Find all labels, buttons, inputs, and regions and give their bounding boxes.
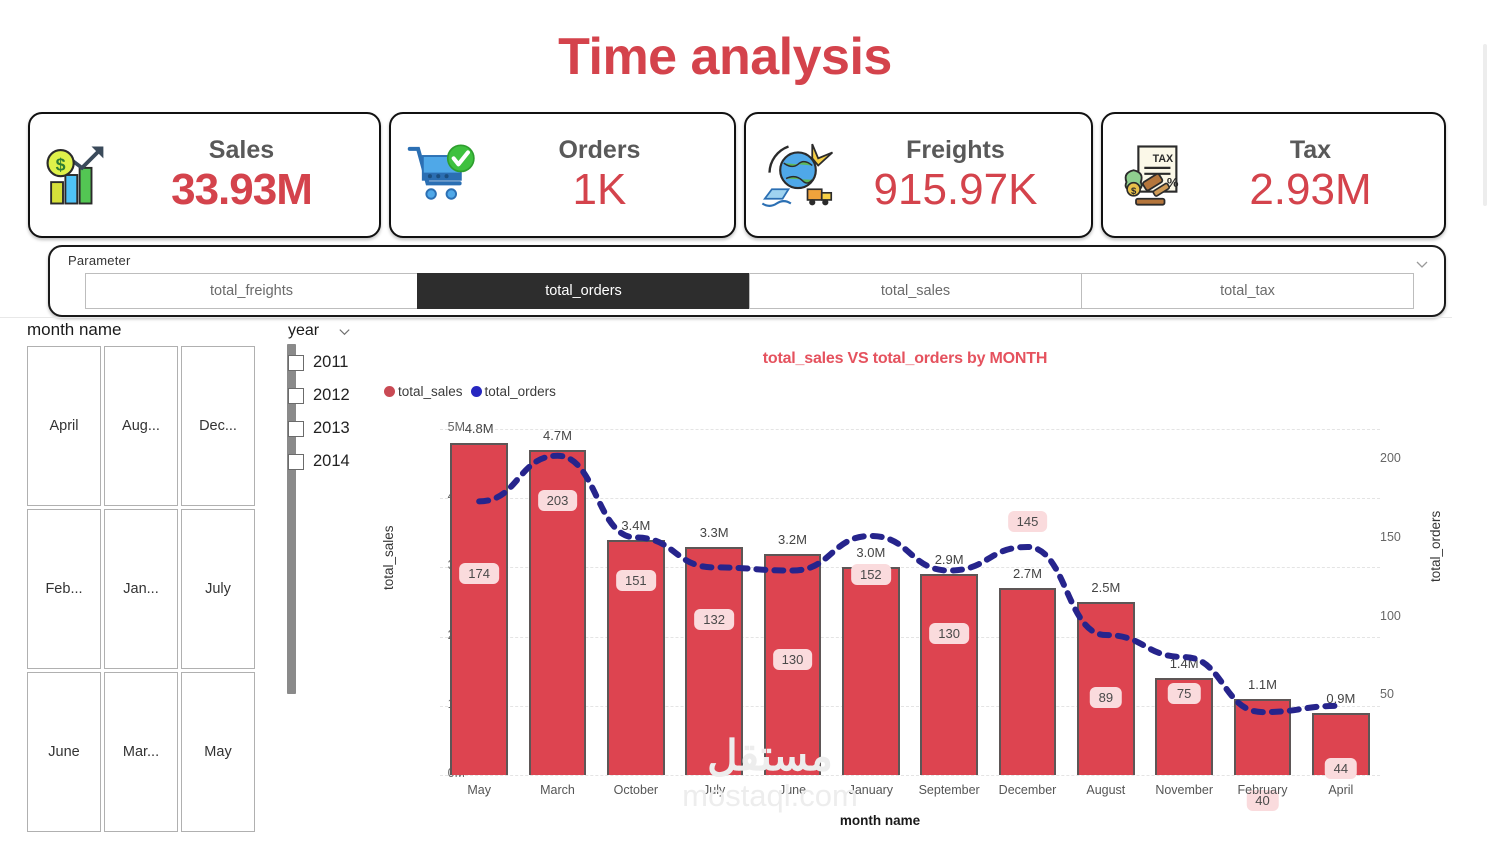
page-title: Time analysis xyxy=(0,30,1450,85)
chart-bar[interactable] xyxy=(920,574,978,775)
kpi-tax-label: Tax xyxy=(1193,137,1428,165)
kpi-card-orders[interactable]: Orders 1K xyxy=(389,112,736,238)
svg-text:$: $ xyxy=(56,154,66,174)
kpi-freights-label: Freights xyxy=(836,137,1075,165)
chart-bar[interactable] xyxy=(450,443,508,775)
month-tile[interactable]: Aug... xyxy=(104,346,178,506)
kpi-card-sales[interactable]: $ Sales 33.93M xyxy=(28,112,381,238)
x-axis-tick: September xyxy=(919,783,980,797)
line-value-label: 89 xyxy=(1090,687,1122,708)
x-axis-title: month name xyxy=(375,813,1385,828)
legend-item-total-sales[interactable]: total_sales xyxy=(384,384,463,399)
legend-dot-total-sales xyxy=(384,386,395,397)
month-tile[interactable]: June xyxy=(27,672,101,832)
dashboard-page: Time analysis $ Sales 33.93M xyxy=(0,0,1493,851)
x-axis-tick: January xyxy=(849,783,893,797)
y-axis-left-title: total_sales xyxy=(381,525,396,590)
month-name-slicer[interactable]: month name April Aug... Dec... Feb... Ja… xyxy=(27,320,272,830)
kpi-card-row: $ Sales 33.93M Orders 1K xyxy=(28,112,1446,238)
section-divider xyxy=(0,317,1452,318)
legend-label: total_sales xyxy=(398,384,463,399)
y-axis-left-tick: 5M xyxy=(405,420,465,434)
line-value-label: 132 xyxy=(694,609,734,630)
month-tile[interactable]: May xyxy=(181,672,255,832)
chevron-down-icon[interactable] xyxy=(337,324,352,339)
bar-value-label: 3.3M xyxy=(700,525,729,540)
line-value-label: 174 xyxy=(459,563,499,584)
parameter-slicer[interactable]: Parameter total_freights total_orders to… xyxy=(48,245,1446,317)
year-label: 2012 xyxy=(313,386,350,405)
shopping-cart-check-icon xyxy=(405,137,481,213)
x-axis-tick: June xyxy=(779,783,806,797)
bar-value-label: 3.4M xyxy=(621,518,650,533)
parameter-option-total-freights[interactable]: total_freights xyxy=(85,273,418,309)
year-slicer-title: year xyxy=(288,322,319,340)
bar-value-label: 4.7M xyxy=(543,428,572,443)
parameter-option-total-orders[interactable]: total_orders xyxy=(417,273,750,309)
svg-text:$: $ xyxy=(1131,186,1137,197)
x-axis-tick: February xyxy=(1237,783,1287,797)
line-value-label: 130 xyxy=(929,623,969,644)
bar-value-label: 2.5M xyxy=(1091,580,1120,595)
chart-plot-area: total_sales total_orders month name 0M1M… xyxy=(375,405,1493,851)
parameter-slicer-label: Parameter xyxy=(68,253,131,268)
kpi-freights-value: 915.97K xyxy=(836,167,1075,213)
legend-item-total-orders[interactable]: total_orders xyxy=(471,384,556,399)
line-value-label: 151 xyxy=(616,570,656,591)
chart-legend: total_sales total_orders xyxy=(384,384,556,399)
tax-document-gavel-icon: TAX % $ xyxy=(1117,137,1193,213)
year-checkbox-2011[interactable] xyxy=(288,355,304,371)
month-tile[interactable]: Dec... xyxy=(181,346,255,506)
x-axis-tick: November xyxy=(1155,783,1213,797)
x-axis-tick: March xyxy=(540,783,575,797)
bar-value-label: 0.9M xyxy=(1326,691,1355,706)
bar-value-label: 1.1M xyxy=(1248,677,1277,692)
chart-title: total_sales VS total_orders by MONTH xyxy=(375,350,1435,368)
chart-bar[interactable] xyxy=(999,588,1057,775)
bar-value-label: 3.2M xyxy=(778,532,807,547)
kpi-sales-text: Sales 33.93M xyxy=(120,137,369,213)
y-axis-right-tick: 200 xyxy=(1380,451,1401,465)
month-tile[interactable]: Jan... xyxy=(104,509,178,669)
page-scrollbar[interactable] xyxy=(1483,44,1487,206)
year-checkbox-2014[interactable] xyxy=(288,454,304,470)
line-value-label: 44 xyxy=(1325,758,1357,779)
parameter-option-total-sales[interactable]: total_sales xyxy=(749,273,1082,309)
year-label: 2013 xyxy=(313,419,350,438)
kpi-card-freights[interactable]: Freights 915.97K xyxy=(744,112,1093,238)
line-value-label: 145 xyxy=(1008,511,1048,532)
y-axis-right-title: total_orders xyxy=(1428,511,1443,582)
parameter-slicer-options: total_freights total_orders total_sales … xyxy=(85,273,1413,309)
year-label: 2014 xyxy=(313,452,350,471)
year-checkbox-2012[interactable] xyxy=(288,388,304,404)
parameter-option-total-tax[interactable]: total_tax xyxy=(1081,273,1414,309)
gridline xyxy=(440,429,1380,430)
kpi-orders-text: Orders 1K xyxy=(481,137,724,213)
combo-chart[interactable]: total_sales VS total_orders by MONTH tot… xyxy=(375,320,1493,851)
x-axis-tick: August xyxy=(1086,783,1125,797)
kpi-orders-value: 1K xyxy=(481,167,718,213)
chart-bar[interactable] xyxy=(685,547,743,775)
global-shipping-icon xyxy=(760,137,836,213)
line-value-label: 130 xyxy=(773,649,813,670)
month-tile-grid: April Aug... Dec... Feb... Jan... July J… xyxy=(27,346,272,832)
chart-bar[interactable] xyxy=(1234,699,1292,775)
kpi-card-tax[interactable]: TAX % $ Tax 2.93M xyxy=(1101,112,1446,238)
legend-dot-total-orders xyxy=(471,386,482,397)
line-value-label: 75 xyxy=(1168,683,1200,704)
kpi-freights-text: Freights 915.97K xyxy=(836,137,1081,213)
bar-value-label: 3.0M xyxy=(856,545,885,560)
year-label: 2011 xyxy=(313,353,348,372)
chart-bar[interactable] xyxy=(842,567,900,775)
bar-value-label: 2.9M xyxy=(935,552,964,567)
month-tile[interactable]: July xyxy=(181,509,255,669)
month-tile[interactable]: April xyxy=(27,346,101,506)
legend-label: total_orders xyxy=(485,384,556,399)
x-axis-tick: May xyxy=(467,783,491,797)
gridline xyxy=(440,775,1380,776)
line-value-label: 203 xyxy=(538,490,578,511)
x-axis-tick: October xyxy=(614,783,658,797)
y-axis-right-tick: 150 xyxy=(1380,530,1401,544)
x-axis-tick: April xyxy=(1328,783,1353,797)
bar-value-label: 1.4M xyxy=(1170,656,1199,671)
kpi-tax-value: 2.93M xyxy=(1193,167,1428,213)
bar-value-label: 2.7M xyxy=(1013,566,1042,581)
y-axis-right-tick: 50 xyxy=(1380,687,1394,701)
kpi-tax-text: Tax 2.93M xyxy=(1193,137,1434,213)
month-tile[interactable]: Mar... xyxy=(104,672,178,832)
month-slicer-title: month name xyxy=(27,320,272,340)
line-value-label: 152 xyxy=(851,564,891,585)
month-tile[interactable]: Feb... xyxy=(27,509,101,669)
x-axis-tick: July xyxy=(703,783,725,797)
chevron-down-icon[interactable] xyxy=(1414,256,1430,272)
x-axis-tick: December xyxy=(999,783,1057,797)
bar-value-label: 4.8M xyxy=(465,421,494,436)
y-axis-right-tick: 100 xyxy=(1380,609,1401,623)
svg-text:TAX: TAX xyxy=(1153,153,1174,165)
kpi-orders-label: Orders xyxy=(481,137,718,165)
year-checkbox-2013[interactable] xyxy=(288,421,304,437)
kpi-sales-value: 33.93M xyxy=(120,167,363,213)
sales-growth-icon: $ xyxy=(44,137,120,213)
kpi-sales-label: Sales xyxy=(120,137,363,165)
